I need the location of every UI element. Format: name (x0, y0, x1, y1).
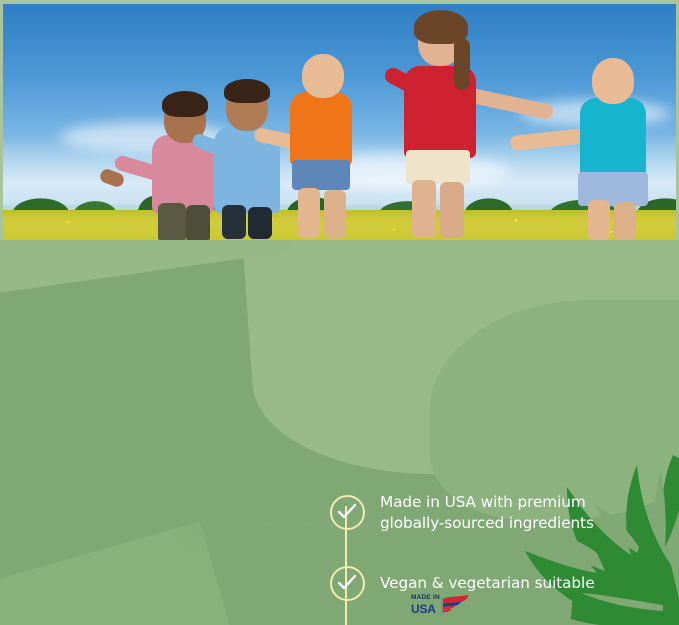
child-figure (380, 10, 560, 240)
usa-flag-icon (441, 595, 471, 615)
badge-line-made-in: MADE IN (411, 595, 440, 602)
frame-border-left (0, 0, 3, 240)
child-figure (540, 40, 679, 240)
hero-photo (0, 4, 679, 240)
badge-line-usa: USA (411, 603, 440, 615)
frame-border-top (0, 0, 679, 4)
corner-accent-shape (0, 521, 230, 625)
check-circle-icon (330, 566, 365, 601)
badge-text-block: MADE IN USA (411, 595, 440, 615)
made-in-usa-badge: MADE IN USA (411, 592, 473, 618)
benefits-panel: Why Go Healthy? Made in USA with premium… (0, 240, 679, 625)
list-item-label: Made in USA with premium globally-source… (380, 492, 594, 533)
benefits-list: Made in USA with premium globally-source… (330, 492, 675, 625)
child-figure (262, 40, 382, 240)
check-circle-icon (330, 495, 365, 530)
list-item: Made in USA with premium globally-source… (330, 492, 675, 533)
marketing-infographic: Why Go Healthy? Made in USA with premium… (0, 0, 679, 625)
list-item-label: Vegan & vegetarian suitable (380, 573, 595, 594)
list-item: Vegan & vegetarian suitable (330, 566, 675, 601)
